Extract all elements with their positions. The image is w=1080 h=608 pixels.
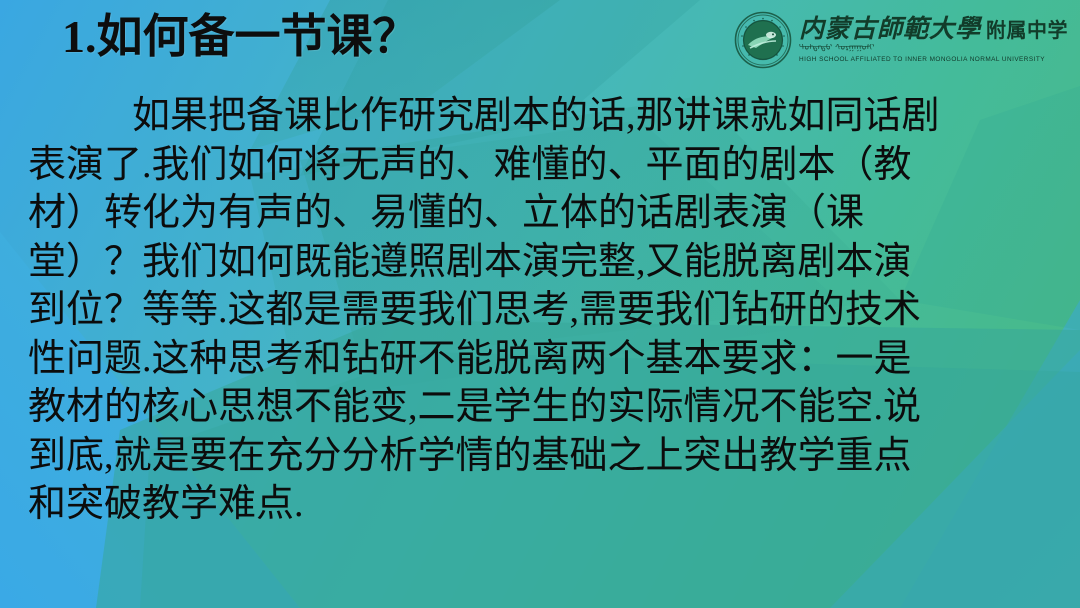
logo-text-block: 内蒙古師範大學 附属中学 ᠳᠤᠮᠳᠠᠳᠤ ᠰᠤᠷᠭᠠᠭᠤᠯᠢ HIGH SCHO… <box>799 16 1068 64</box>
slide-canvas: 1.如何备一节课？ <box>0 0 1080 608</box>
body-line: 和突破教学难点. <box>28 480 1028 529</box>
school-logo: 内蒙古師範大學 附属中学 ᠳᠤᠮᠳᠠᠳᠤ ᠰᠤᠷᠭᠠᠭᠤᠯᠢ HIGH SCHO… <box>734 9 1068 71</box>
body-line: 如果把备课比作研究剧本的话,那讲课就如同话剧 <box>28 92 1028 141</box>
page-title: 1.如何备一节课？ <box>62 8 419 66</box>
logo-english-name: HIGH SCHOOL AFFILIATED TO INNER MONGOLIA… <box>799 57 1065 64</box>
logo-university-name: 内蒙古師範大學 <box>799 17 981 42</box>
logo-mongolian-script: ᠳᠤᠮᠳᠠᠳᠤ ᠰᠤᠷᠭᠠᠭᠤᠯᠢ <box>799 44 1068 55</box>
body-line: 堂）？我们如何既能遵照剧本演完整,又能脱离剧本演 <box>28 238 1028 287</box>
body-paragraph: 如果把备课比作研究剧本的话,那讲课就如同话剧 表演了.我们如何将无声的、难懂的、… <box>28 92 1028 529</box>
body-line: 性问题.这种思考和钻研不能脱离两个基本要求：一是 <box>28 335 1028 384</box>
body-line: 材）转化为有声的、易懂的、立体的话剧表演（课 <box>28 189 1028 238</box>
body-line: 教材的核心思想不能变,二是学生的实际情况不能空.说 <box>28 383 1028 432</box>
body-line: 到底,就是要在充分分析学情的基础之上突出教学重点 <box>28 432 1028 481</box>
logo-chinese-name: 内蒙古師範大學 附属中学 <box>799 17 1068 42</box>
logo-school-name: 附属中学 <box>986 21 1068 41</box>
body-line: 表演了.我们如何将无声的、难懂的、平面的剧本（教 <box>28 141 1028 190</box>
seal-icon <box>734 11 792 69</box>
body-line: 到位？等等.这都是需要我们思考,需要我们钻研的技术 <box>28 286 1028 335</box>
